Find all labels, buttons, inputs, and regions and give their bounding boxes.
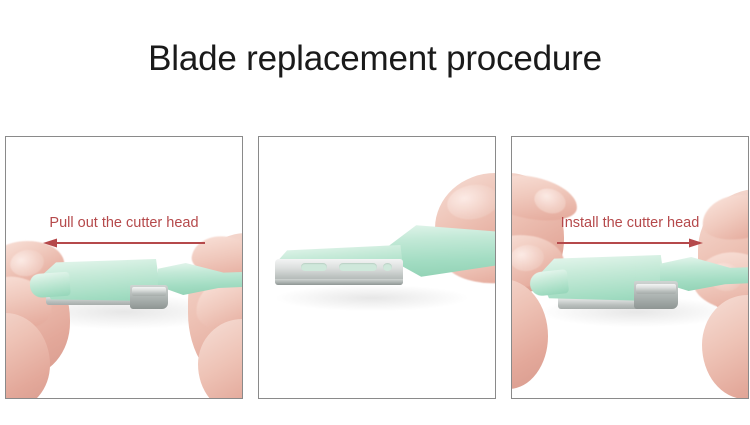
step1-arrow-container <box>6 237 242 253</box>
step3-cutter-head-neck <box>529 269 569 297</box>
step3-arrow-container <box>512 237 748 253</box>
page-title: Blade replacement procedure <box>0 38 750 80</box>
step1-cutter-head-neck <box>29 272 71 299</box>
step2-shadow <box>277 285 467 311</box>
step1-photo: Pull out the cutter head <box>6 137 242 398</box>
step1-caption: Pull out the cutter head <box>6 215 242 232</box>
step1-blade-holder-teeth <box>132 287 166 296</box>
step3-right-palm <box>702 295 749 399</box>
step2-blade-hole <box>383 263 392 271</box>
step3-photo: Install the cutter head <box>512 137 748 398</box>
procedure-step-panel-3: Install the cutter head <box>511 136 749 399</box>
procedure-panel-group: Pull out the cutter head <box>5 136 745 399</box>
step2-blade-slot-2 <box>339 263 377 271</box>
step2-photo <box>259 137 495 398</box>
arrow-right-icon <box>555 237 705 249</box>
step2-blade-slot-1 <box>301 263 327 271</box>
arrow-left-icon <box>41 237 207 249</box>
procedure-step-panel-1: Pull out the cutter head <box>5 136 243 399</box>
step3-caption: Install the cutter head <box>512 215 748 232</box>
procedure-step-panel-2 <box>258 136 496 399</box>
step3-blade-holder-teeth <box>636 284 676 294</box>
step2-blade-edge <box>275 279 403 285</box>
